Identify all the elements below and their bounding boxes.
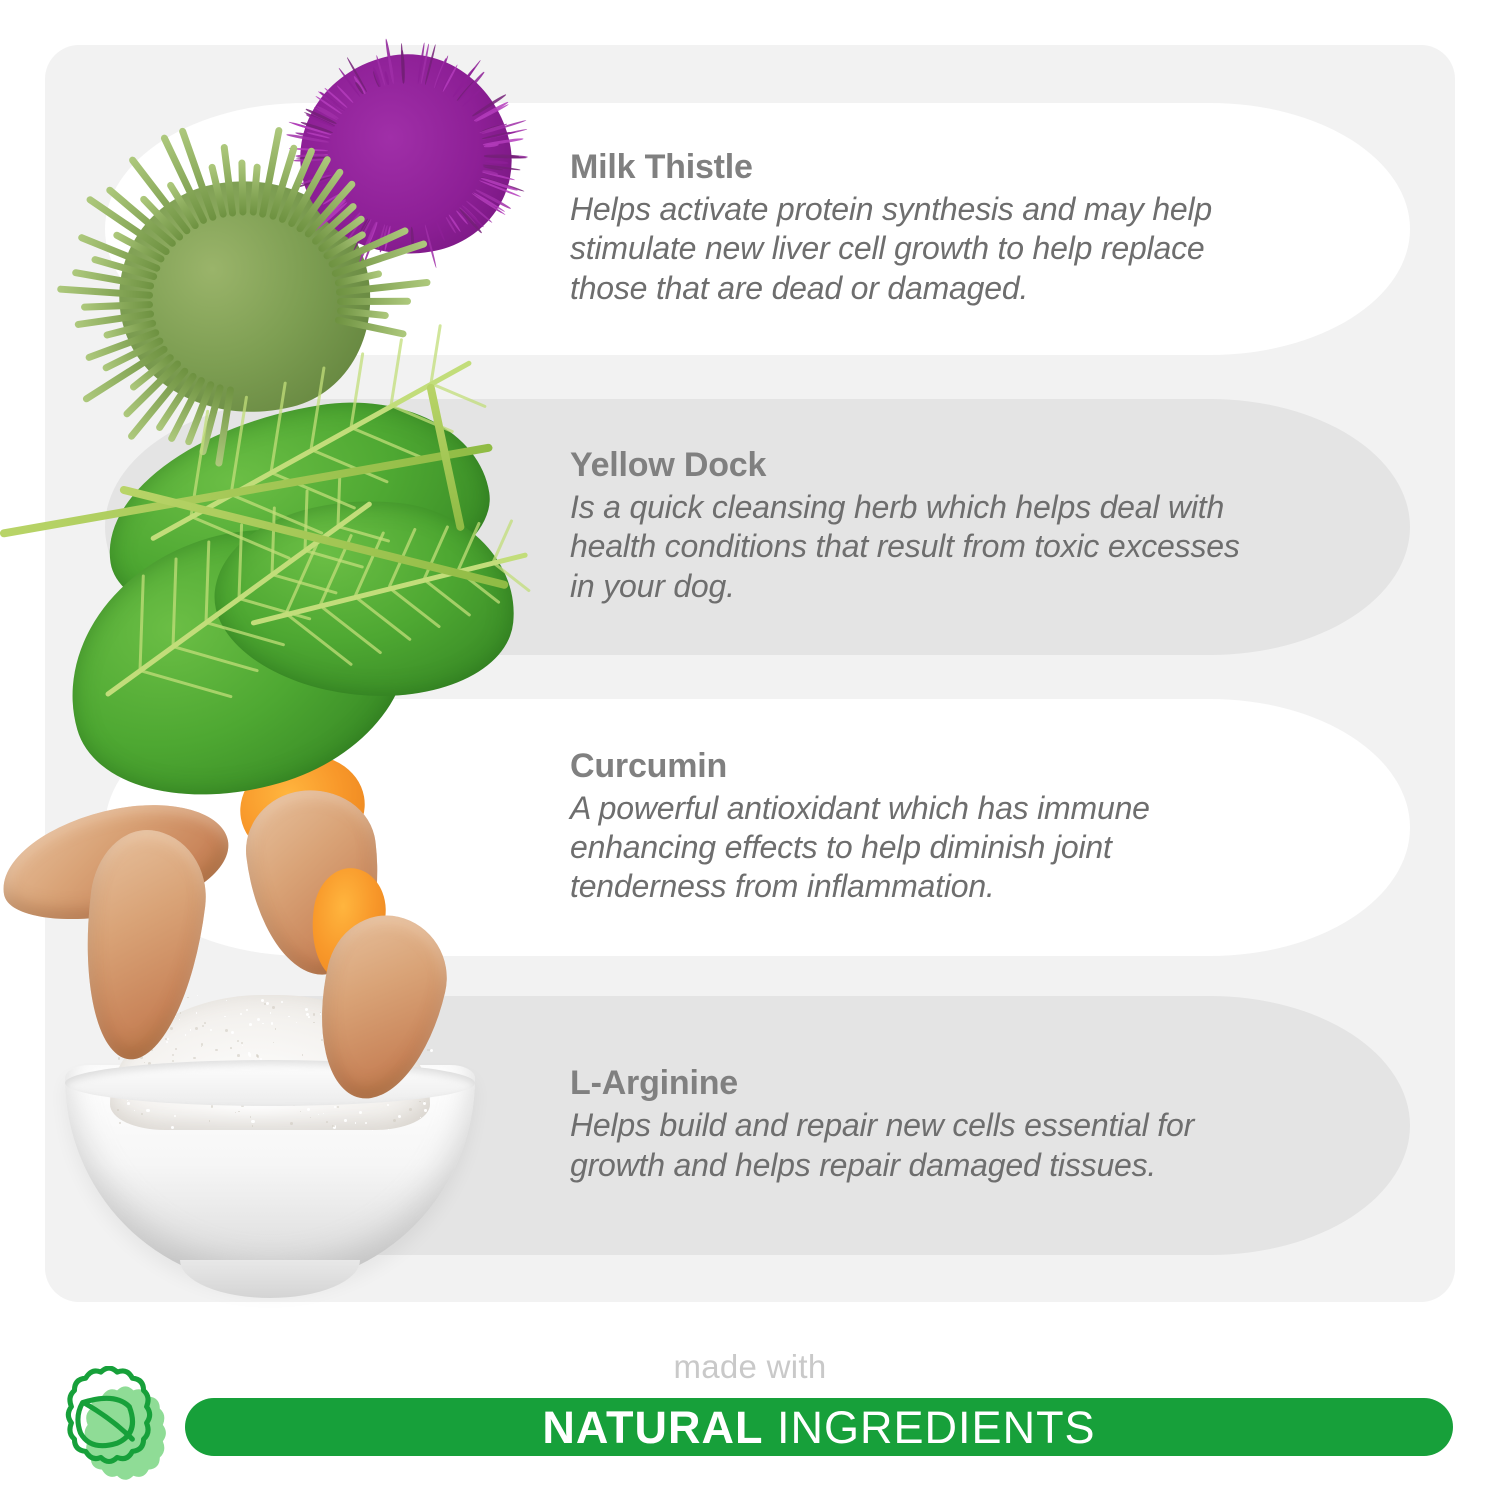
ingredient-name: Yellow Dock [570, 448, 1350, 482]
natural-leaf-badge-icon [48, 1366, 170, 1492]
banner-text: NATURAL INGREDIENTS [542, 1405, 1095, 1450]
ingredient-description: Helps build and repair new cells essenti… [570, 1106, 1270, 1184]
ingredient-description: A powerful antioxidant which has immune … [570, 789, 1270, 906]
made-with-label: made with [0, 1348, 1500, 1386]
infographic-canvas: Milk Thistle Helps activate protein synt… [0, 0, 1500, 1500]
ingredient-description: Helps activate protein synthesis and may… [570, 190, 1270, 307]
ingredient-card-milk-thistle: Milk Thistle Helps activate protein synt… [105, 103, 1410, 355]
ingredient-card-l-arginine: L-Arginine Helps build and repair new ce… [105, 996, 1410, 1255]
ingredient-card-curcumin: Curcumin A powerful antioxidant which ha… [105, 699, 1410, 956]
banner-light-word: INGREDIENTS [777, 1402, 1096, 1453]
banner-bold-word: NATURAL [542, 1402, 763, 1453]
ingredient-name: Milk Thistle [570, 150, 1350, 184]
ingredient-card-yellow-dock: Yellow Dock Is a quick cleansing herb wh… [105, 399, 1410, 655]
natural-ingredients-banner: NATURAL INGREDIENTS [185, 1398, 1453, 1456]
ingredient-description: Is a quick cleansing herb which helps de… [570, 488, 1270, 605]
ingredient-name: Curcumin [570, 749, 1350, 783]
ingredient-name: L-Arginine [570, 1066, 1350, 1100]
